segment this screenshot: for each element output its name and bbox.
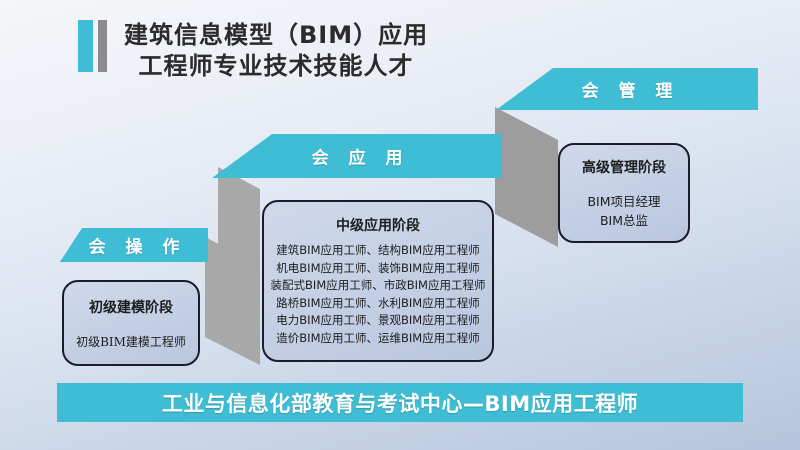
footer-banner: 工业与信息化部教育与考试中心—BIM应用工程师 — [57, 383, 743, 422]
stair-tread-manage[interactable]: 会 管 理 — [496, 68, 758, 110]
footer-banner-text: 工业与信息化部教育与考试中心—BIM应用工程师 — [162, 388, 638, 418]
stage-box-intermediate-line: 装配式BIM应用工师、市政BIM应用工程师 — [271, 277, 486, 295]
title-accent-cyan-bar — [78, 20, 93, 72]
stage-box-advanced-title: 高级管理阶段 — [582, 157, 666, 177]
stage-box-advanced-line: BIM项目经理 — [587, 192, 660, 211]
page-title: 建筑信息模型（BIM）应用 工程师专业技术技能人才 — [78, 20, 428, 82]
stair-label-operate: 会 操 作 — [60, 233, 208, 258]
stair-tread-apply[interactable]: 会 应 用 — [212, 134, 502, 178]
stair-label-manage: 会 管 理 — [496, 77, 758, 102]
stage-box-intermediate-line: 建筑BIM应用工师、结构BIM应用工程师 — [276, 242, 479, 260]
stair-tread-operate[interactable]: 会 操 作 — [60, 228, 208, 262]
stage-box-advanced-line: BIM总监 — [600, 211, 648, 230]
stage-box-intermediate-line: 电力BIM应用工师、景观BIM应用工程师 — [276, 312, 479, 330]
stair-label-apply: 会 应 用 — [212, 144, 502, 169]
title-line-1: 建筑信息模型（BIM）应用 — [124, 20, 428, 51]
stage-box-basic-title: 初级建模阶段 — [89, 297, 173, 317]
stage-box-intermediate-line: 路桥BIM应用工师、水利BIM应用工程师 — [276, 295, 479, 313]
stage-box-basic[interactable]: 初级建模阶段 初级BIM建模工程师 — [62, 280, 200, 366]
stage-box-intermediate[interactable]: 中级应用阶段 建筑BIM应用工师、结构BIM应用工程师 机电BIM应用工师、装饰… — [262, 200, 494, 362]
title-line-2: 工程师专业技术技能人才 — [124, 51, 428, 82]
stage-box-basic-line: 初级BIM建模工程师 — [76, 333, 186, 350]
stage-box-advanced[interactable]: 高级管理阶段 BIM项目经理 BIM总监 — [558, 143, 690, 243]
stage-box-intermediate-line: 机电BIM应用工师、装饰BIM应用工程师 — [276, 260, 479, 278]
title-text: 建筑信息模型（BIM）应用 工程师专业技术技能人才 — [124, 20, 428, 82]
slide-canvas: 建筑信息模型（BIM）应用 工程师专业技术技能人才 会 操 作 会 应 用 会 … — [0, 0, 800, 450]
title-accent-gray-bar — [98, 20, 107, 72]
stage-box-intermediate-line: 造价BIM应用工师、运维BIM应用工程师 — [276, 330, 479, 348]
stair-riser-2 — [495, 107, 558, 247]
stage-box-intermediate-title: 中级应用阶段 — [336, 215, 420, 235]
